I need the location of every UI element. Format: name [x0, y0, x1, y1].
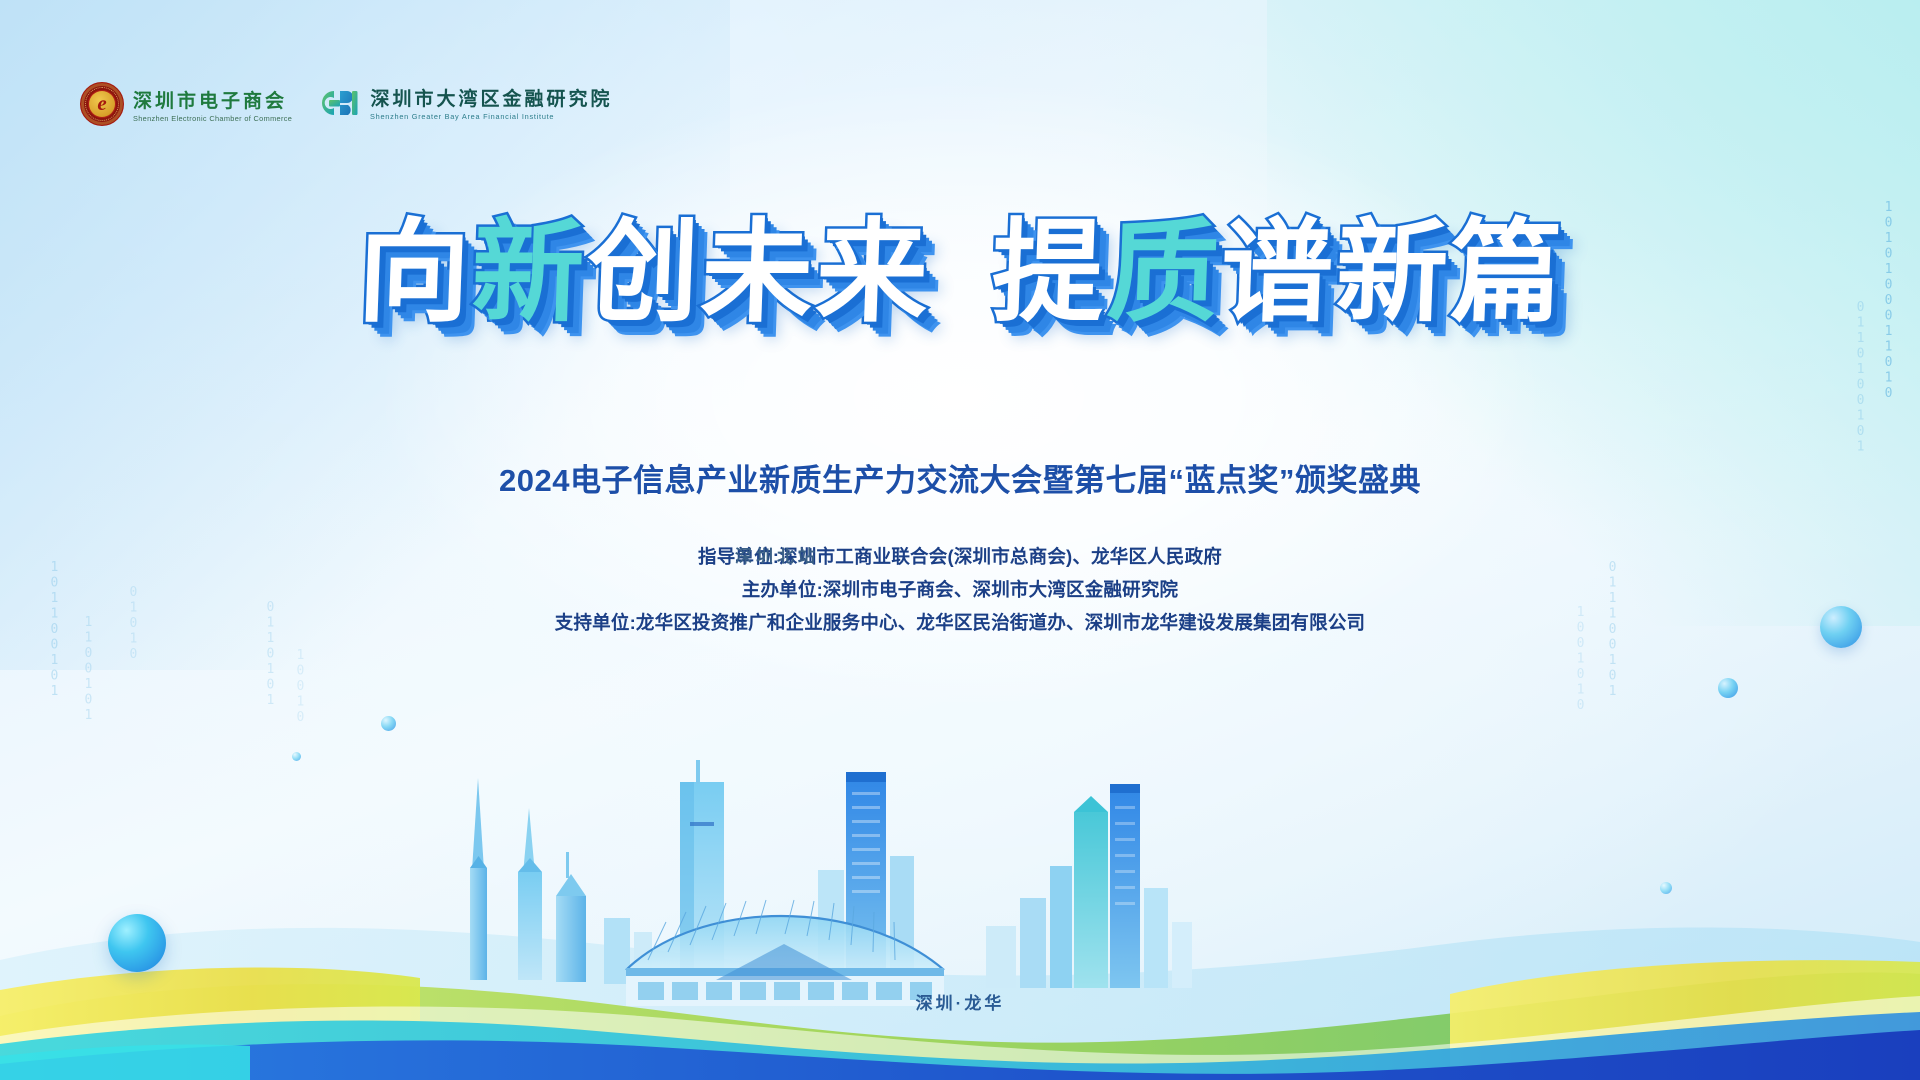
organizer-list: 指导单位:深圳市工商业联合会(深圳市总商会)、龙华区人民政府 主办单位:深圳市电…: [0, 540, 1920, 639]
organizer-line-host: 主办单位:深圳市电子商会、深圳市大湾区金融研究院: [0, 573, 1920, 606]
station-name-label: 深圳北站: [735, 542, 819, 567]
logo-title-cn: 深圳市电子商会: [133, 86, 295, 113]
logo-shenzhen-electronic-chamber-of-commerce: 深圳市电子商会 Shenzhen Electronic Chamber of C…: [80, 82, 295, 126]
headline-char: 未: [699, 214, 815, 333]
headline-char: 提: [990, 214, 1106, 333]
logo-bar: 深圳市电子商会 Shenzhen Electronic Chamber of C…: [80, 82, 612, 126]
poster-headline: 向 新 创 未 来 提 质 谱 新 篇: [0, 214, 1920, 333]
headline-char-accent: 新: [470, 214, 586, 333]
decorative-sphere: [292, 752, 301, 761]
poster-subtitle: 2024电子信息产业新质生产力交流大会暨第七届“蓝点奖”颁奖盛典: [0, 455, 1920, 500]
decorative-sphere: [381, 716, 396, 731]
headline-char: 新: [1334, 214, 1450, 333]
organizer-line-support: 支持单位:龙华区投资推广和企业服务中心、龙华区民治街道办、深圳市龙华建设发展集团…: [0, 606, 1920, 639]
headline-char: 创: [585, 214, 701, 333]
headline-char: 篇: [1448, 214, 1564, 333]
headline-char: 来: [813, 214, 929, 333]
city-name-label: 深圳·龙华: [0, 989, 1920, 1014]
building-group-right: [986, 784, 1192, 988]
poster-canvas: 1010100011010 0110100101 101100101 11001…: [0, 0, 1920, 1080]
decorative-sphere: [1718, 678, 1738, 698]
gbi-monogram-icon: [317, 87, 361, 119]
skyline-scene: 深圳北站 深圳·龙华: [0, 660, 1920, 1080]
chamber-seal-icon: [80, 82, 124, 126]
decorative-sphere: [1660, 882, 1672, 894]
logo-title-en: Shenzhen Greater Bay Area Financial Inst…: [370, 112, 607, 121]
headline-char-accent: 质: [1105, 214, 1221, 333]
headline-char: 向: [356, 214, 472, 333]
decorative-sphere: [108, 914, 166, 972]
logo-title-en: Shenzhen Electronic Chamber of Commerce: [133, 114, 292, 123]
organizer-line-guidance: 指导单位:深圳市工商业联合会(深圳市总商会)、龙华区人民政府: [0, 540, 1920, 573]
decorative-sphere: [1820, 606, 1862, 648]
logo-shenzhen-greater-bay-area-financial-institute: 深圳市大湾区金融研究院 Shenzhen Greater Bay Area Fi…: [317, 84, 612, 121]
headline-char: 谱: [1219, 214, 1335, 333]
logo-title-cn: 深圳市大湾区金融研究院: [370, 84, 612, 111]
